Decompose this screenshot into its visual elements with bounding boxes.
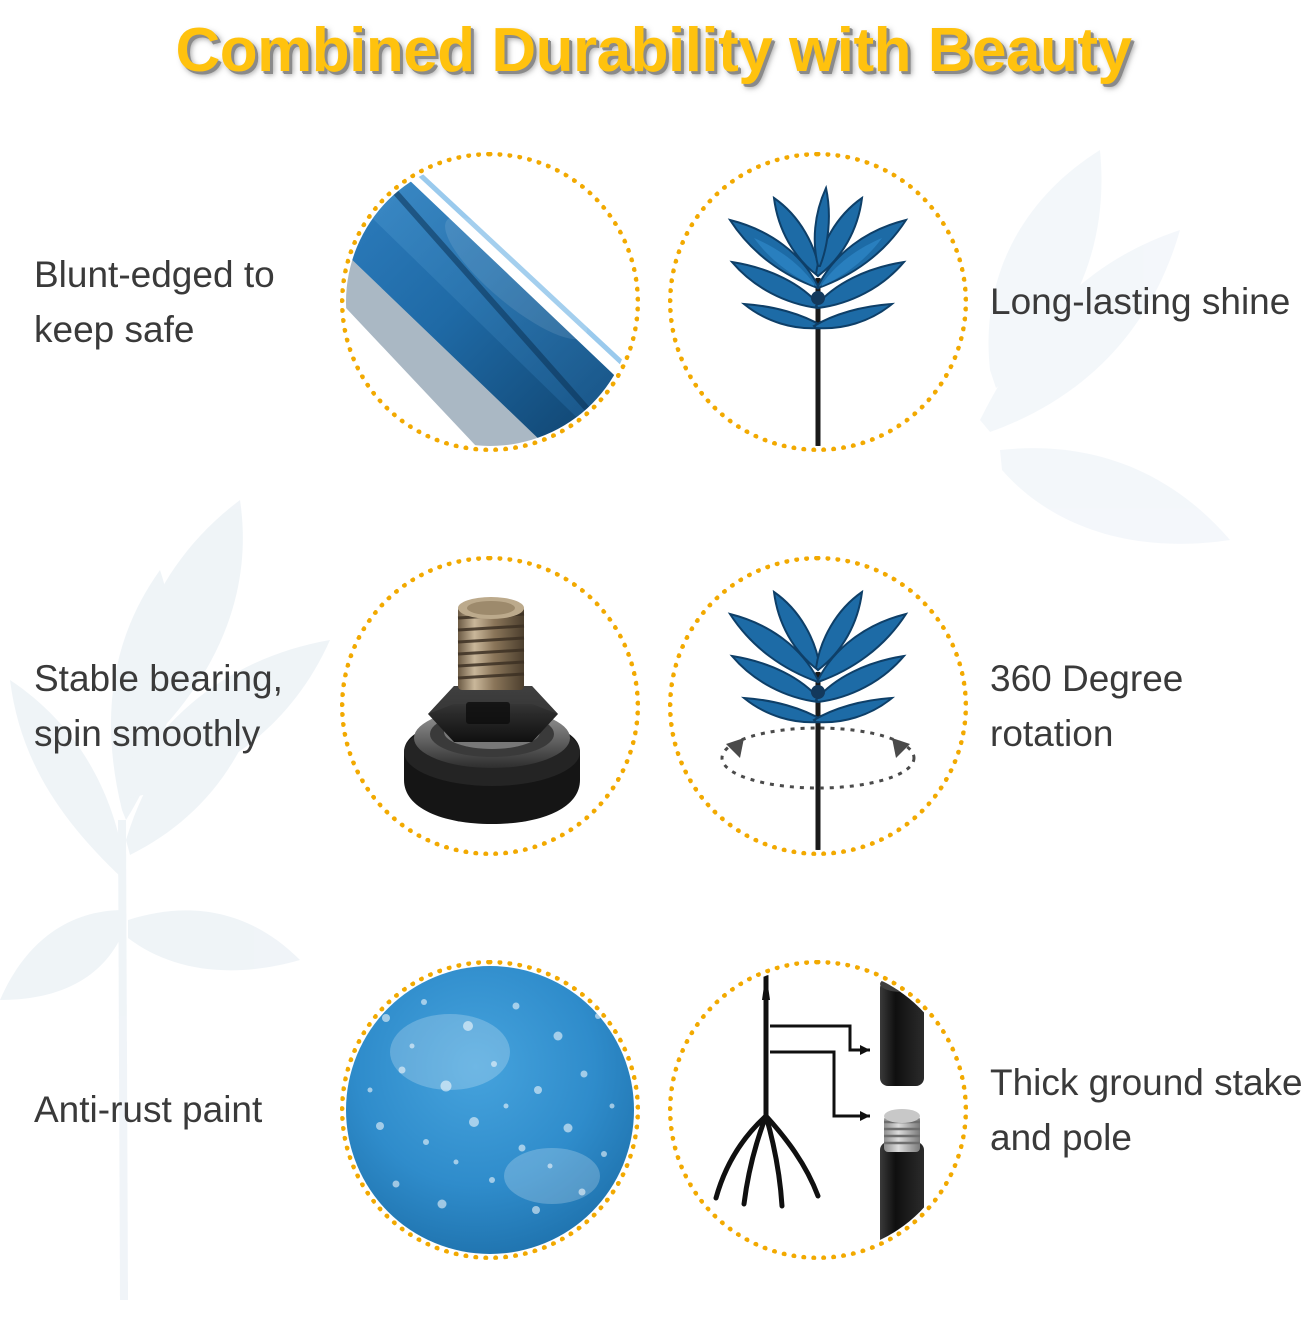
feature-row: Blunt-edged to keep safe bbox=[0, 100, 1307, 504]
feature-image-spinner-rotation-arrows bbox=[658, 546, 978, 866]
dotted-circle-frame bbox=[340, 556, 640, 856]
feature-image-blue-painted-surface-water-drops bbox=[330, 950, 650, 1270]
dotted-circle-frame bbox=[668, 152, 968, 452]
feature-label-anti-rust-paint: Anti-rust paint bbox=[0, 1082, 330, 1138]
page-title-bar: Combined Durability with Beauty bbox=[0, 0, 1307, 100]
feature-label-thick-ground-stake-and-pole: Thick ground stake and pole bbox=[978, 1055, 1307, 1166]
feature-image-ground-stake-and-pole bbox=[658, 950, 978, 1270]
dotted-circle-frame bbox=[668, 960, 968, 1260]
feature-image-bearing-bolt-closeup bbox=[330, 546, 650, 866]
dotted-circle-frame bbox=[340, 152, 640, 452]
dotted-circle-frame bbox=[668, 556, 968, 856]
dotted-circle-frame bbox=[340, 960, 640, 1260]
feature-grid: Blunt-edged to keep safe bbox=[0, 100, 1307, 1312]
feature-image-blue-blade-edge-closeup bbox=[330, 142, 650, 462]
feature-row: Stable bearing, spin smoothly bbox=[0, 504, 1307, 908]
page-title: Combined Durability with Beauty bbox=[176, 15, 1132, 86]
feature-label-360-degree-rotation: 360 Degree rotation bbox=[978, 651, 1307, 762]
feature-label-stable-bearing: Stable bearing, spin smoothly bbox=[0, 651, 330, 762]
feature-label-long-lasting-shine: Long-lasting shine bbox=[978, 274, 1307, 330]
feature-label-blunt-edged: Blunt-edged to keep safe bbox=[0, 247, 330, 358]
feature-row: Anti-rust paint bbox=[0, 908, 1307, 1312]
feature-image-blue-windmill-spinner bbox=[658, 142, 978, 462]
